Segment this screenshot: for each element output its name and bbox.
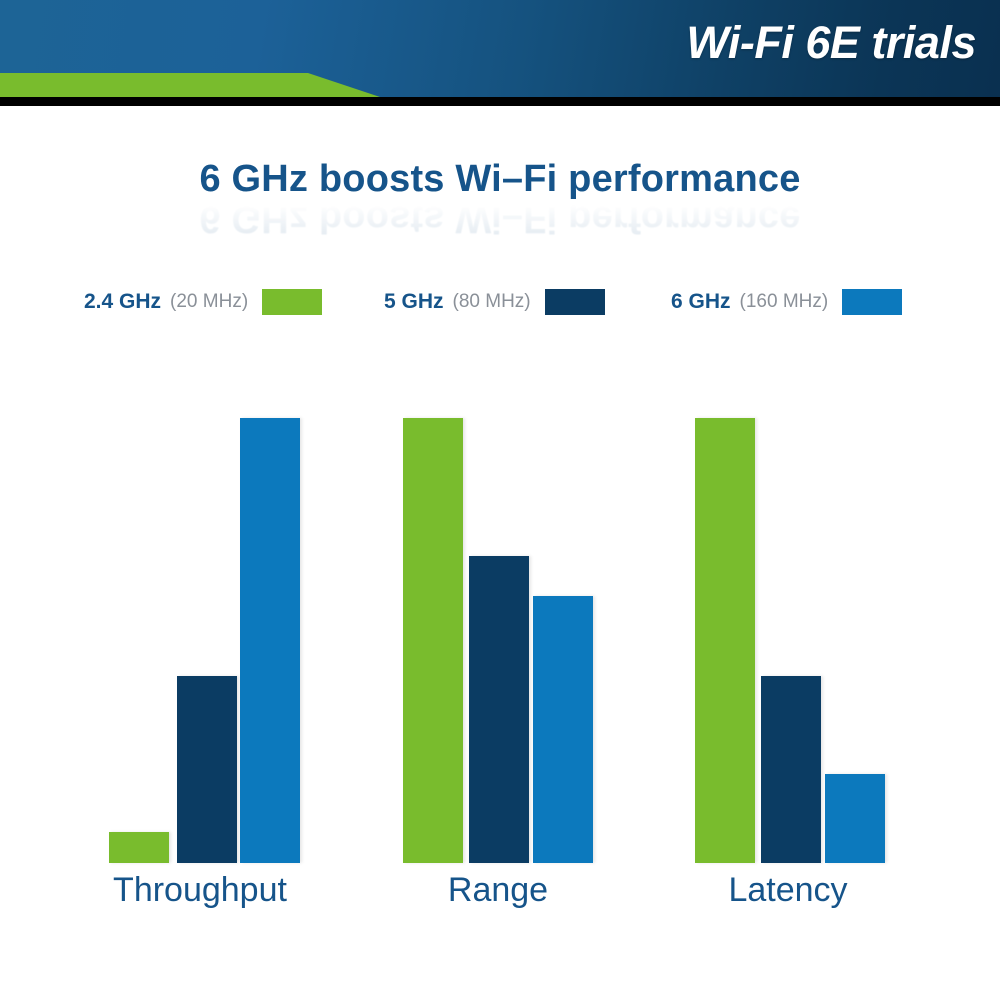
category-label-latency: Latency	[678, 871, 898, 910]
bar-range-5ghz[interactable]	[469, 556, 529, 863]
bar-chart-plot-area: Throughput Range Latency	[0, 0, 1000, 1000]
bar-throughput-5ghz[interactable]	[177, 676, 237, 863]
bar-latency-6ghz[interactable]	[825, 774, 885, 863]
bar-range-2-4ghz[interactable]	[403, 418, 463, 863]
bar-range-6ghz[interactable]	[533, 596, 593, 863]
bar-throughput-2-4ghz[interactable]	[109, 832, 169, 863]
bar-latency-5ghz[interactable]	[761, 676, 821, 863]
bar-latency-2-4ghz[interactable]	[695, 418, 755, 863]
bar-throughput-6ghz[interactable]	[240, 418, 300, 863]
category-label-throughput: Throughput	[90, 871, 310, 910]
category-label-range: Range	[388, 871, 608, 910]
